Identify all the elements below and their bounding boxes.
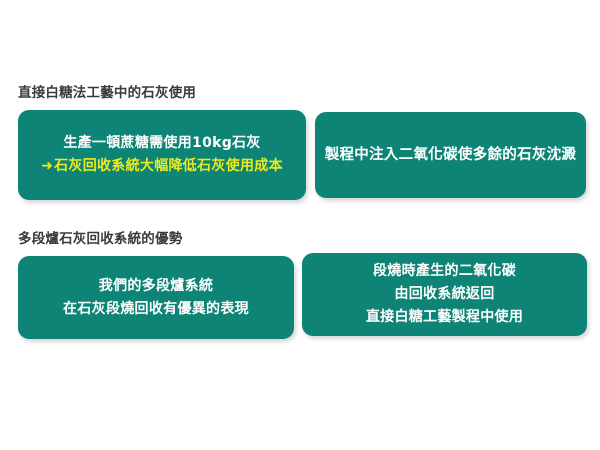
card-co2-return: 段燒時產生的二氧化碳 由回收系統返回 直接白糖工藝製程中使用 — [302, 253, 587, 336]
card-furnace-performance: 我們的多段爐系統 在石灰段燒回收有優異的表現 — [18, 256, 294, 339]
section-1-heading: 直接白糖法工藝中的石灰使用 — [18, 84, 600, 102]
infographic-slide: 直接白糖法工藝中的石灰使用 生產一頓蔗糖需使用10kg石灰 ➜石灰回收系統大幅降… — [0, 0, 600, 450]
card-lime-consumption-line-2: ➜石灰回收系統大幅降低石灰使用成本 — [41, 155, 283, 178]
card-co2-return-line-2: 由回收系統返回 — [394, 283, 494, 306]
arrow-right-icon: ➜ — [41, 155, 53, 178]
card-co2-injection: 製程中注入二氧化碳使多餘的石灰沈澱 — [315, 112, 586, 198]
card-furnace-performance-line-2: 在石灰段燒回收有優異的表現 — [63, 298, 249, 321]
card-co2-return-line-3: 直接白糖工藝製程中使用 — [366, 306, 523, 329]
section-multi-hearth-furnace-advantages: 多段爐石灰回收系統的優勢 我們的多段爐系統 在石灰段燒回收有優異的表現 段燒時產… — [0, 230, 600, 346]
card-co2-injection-line-1: 製程中注入二氧化碳使多餘的石灰沈澱 — [325, 144, 577, 167]
card-lime-consumption-line-2-text: 石灰回收系統大幅降低石灰使用成本 — [54, 158, 283, 174]
card-lime-consumption-line-1: 生產一頓蔗糖需使用10kg石灰 — [63, 132, 260, 155]
section-2-card-row: 我們的多段爐系統 在石灰段燒回收有優異的表現 段燒時產生的二氧化碳 由回收系統返… — [0, 256, 600, 346]
card-co2-return-line-1: 段燒時產生的二氧化碳 — [373, 260, 516, 283]
card-lime-consumption: 生產一頓蔗糖需使用10kg石灰 ➜石灰回收系統大幅降低石灰使用成本 — [18, 110, 306, 200]
section-1-card-row: 生產一頓蔗糖需使用10kg石灰 ➜石灰回收系統大幅降低石灰使用成本 製程中注入二… — [0, 110, 600, 208]
section-2-heading: 多段爐石灰回收系統的優勢 — [18, 230, 600, 248]
card-furnace-performance-line-1: 我們的多段爐系統 — [99, 275, 213, 298]
section-direct-white-sugar-lime-usage: 直接白糖法工藝中的石灰使用 生產一頓蔗糖需使用10kg石灰 ➜石灰回收系統大幅降… — [0, 84, 600, 208]
